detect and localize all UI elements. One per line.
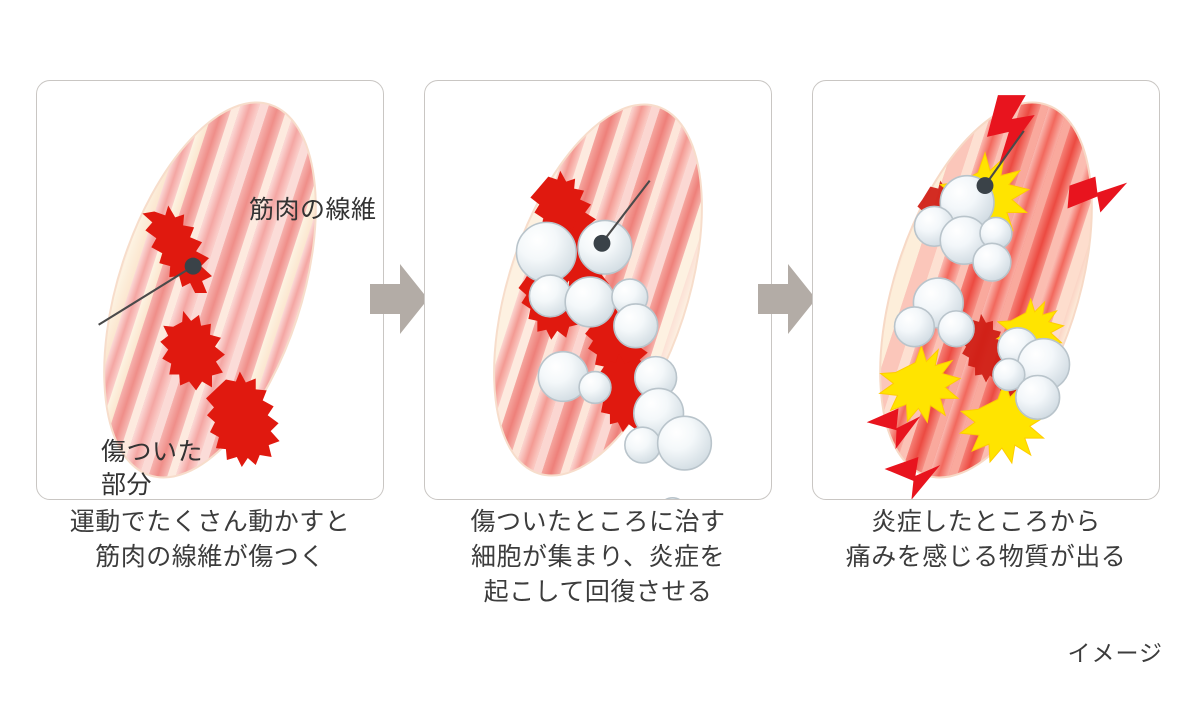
leader-dot [594, 235, 611, 252]
healing-cell [895, 307, 935, 347]
healing-cell [938, 311, 974, 347]
healing-cell [614, 304, 658, 348]
healing-cell [625, 427, 661, 463]
panel-caption-3: 炎症したところから 痛みを感じる物質が出る [806, 505, 1166, 575]
healing-cell [659, 498, 687, 499]
panel-stage-2: 治す細胞 [424, 80, 772, 500]
panel-caption-2: 傷ついたところに治す 細胞が集まり、炎症を 起こして回復させる [418, 505, 778, 610]
panel-2-illustration [425, 81, 771, 499]
panel-3-illustration [813, 81, 1159, 499]
panel-stage-1: 筋肉の線維 傷ついた 部分 [36, 80, 384, 500]
healing-cell [516, 222, 576, 282]
muscle-fiber-label: 筋肉の線維 [249, 194, 377, 227]
healing-cell [658, 416, 712, 470]
leader-dot [185, 258, 202, 275]
healing-cell [579, 372, 611, 404]
damaged-part-label: 傷ついた 部分 [101, 436, 203, 502]
healing-cell [973, 243, 1011, 281]
healing-cell [565, 277, 615, 327]
healing-cell [1016, 376, 1060, 420]
healing-cell [529, 275, 571, 317]
panel-stage-3: 痛みを 生む物質 [812, 80, 1160, 500]
panel-1-illustration [37, 81, 383, 499]
image-credit-label: イメージ [1067, 634, 1163, 668]
panel-caption-1: 運動でたくさん動かすと 筋肉の線維が傷つく [30, 505, 390, 575]
leader-dot [977, 177, 994, 194]
diagram-canvas: 筋肉の線維 傷ついた 部分 [0, 0, 1201, 701]
flow-arrow-1 [368, 262, 430, 336]
flow-arrow-2 [756, 262, 818, 336]
